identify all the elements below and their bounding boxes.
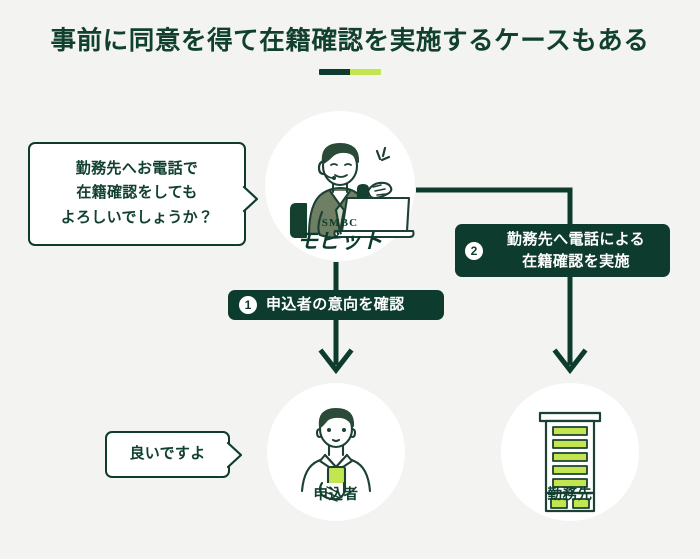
logo-smbc-text: SMBC bbox=[265, 218, 415, 229]
bubble-tail-icon bbox=[228, 442, 243, 468]
bubble-agree-line-1: 良いですよ bbox=[113, 444, 222, 464]
step-2-line-1: 勤務先へ電話による bbox=[507, 231, 645, 248]
bubble-consent-line-2: 在籍確認をしても bbox=[40, 181, 234, 205]
infographic-canvas: 事前に同意を得て在籍確認を実施するケースもある bbox=[0, 0, 700, 559]
bubble-tail-icon bbox=[244, 186, 259, 212]
step-2-line-2: 在籍確認を実施 bbox=[522, 253, 630, 270]
connector-operator-to-workplace bbox=[416, 190, 584, 370]
caption-applicant: 申込者 bbox=[261, 483, 411, 504]
step-2-text: 勤務先へ電話による 在籍確認を実施 bbox=[492, 229, 660, 273]
step-1-label: 1 申込者の意向を確認 bbox=[228, 290, 444, 320]
step-2-badge: 2 bbox=[465, 242, 483, 260]
step-2-label: 2 勤務先へ電話による 在籍確認を実施 bbox=[455, 224, 670, 277]
bubble-consent-line-3: よろしいでしょうか？ bbox=[40, 206, 234, 230]
logo-mobit-text: モビット bbox=[265, 231, 415, 252]
caption-workplace: 勤務先 bbox=[495, 483, 645, 504]
step-1-text: 申込者の意向を確認 bbox=[266, 294, 405, 316]
bubble-consent-line-1: 勤務先へお電話で bbox=[40, 157, 234, 181]
speech-bubble-consent: 勤務先へお電話で 在籍確認をしても よろしいでしょうか？ bbox=[28, 142, 246, 246]
speech-bubble-agree: 良いですよ bbox=[105, 431, 230, 478]
operator-logo: SMBC モビット bbox=[265, 218, 415, 252]
step-1-badge: 1 bbox=[239, 296, 257, 314]
